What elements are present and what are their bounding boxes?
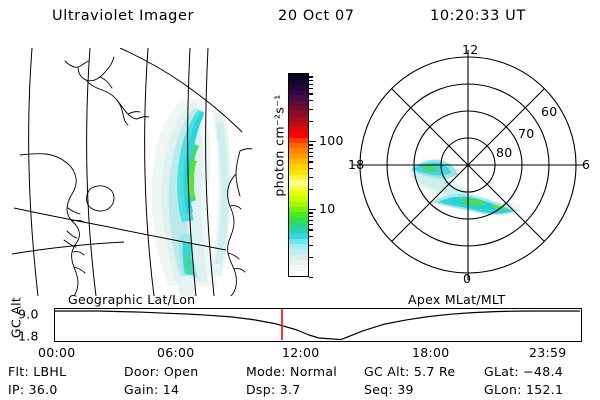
polar-mlt-label-12: 12: [462, 42, 479, 57]
time-axis: 00:00 06:00 12:00 18:00 23:59: [0, 345, 600, 361]
gc-alt-tick-max: 9.0: [18, 307, 39, 322]
colorbar-tick: [309, 189, 313, 190]
orbit-altitude-svg: [55, 309, 580, 340]
colorbar-axis-label: photon cm⁻²s⁻¹: [272, 76, 287, 216]
observation-time: 10:20:33 UT: [430, 8, 526, 24]
polar-mlt-label-18: 18: [348, 157, 365, 172]
colorbar-tick: [309, 93, 313, 94]
aurora-emission-geo: [152, 98, 231, 296]
geographic-panel-caption: Geographic Lat/Lon: [68, 292, 195, 307]
status-seq: Seq: 39: [364, 382, 414, 397]
status-glon: GLon: 152.1: [484, 382, 563, 397]
colorbar-tick: [309, 148, 313, 149]
colorbar-tick: [309, 212, 313, 213]
status-block: Flt: LBHL Door: Open Mode: Normal GC Alt…: [0, 364, 600, 400]
time-tick-3: 18:00: [412, 345, 450, 360]
polar-plot-svg: [346, 44, 594, 296]
status-ip: IP: 36.0: [8, 382, 58, 397]
header-bar: Ultraviolet Imager 20 Oct 07 10:20:33 UT: [0, 6, 600, 30]
status-flt: Flt: LBHL: [8, 364, 66, 379]
colorbar-tick: [309, 141, 316, 142]
colorbar-tick: [309, 216, 313, 217]
polar-mlt-label-6: 6: [582, 157, 590, 172]
colorbar-tick: [309, 80, 313, 81]
colorbar-tick: [309, 224, 313, 225]
page-title: Ultraviolet Imager: [52, 8, 194, 24]
time-tick-0: 00:00: [38, 345, 76, 360]
colorbar-tick: [309, 76, 313, 77]
status-gc-alt: GC Alt: 5.7 Re: [364, 364, 455, 379]
observation-date: 20 Oct 07: [278, 8, 355, 24]
colorbar-tick: [309, 88, 313, 89]
time-tick-2: 12:00: [282, 345, 320, 360]
geographic-map-svg: [12, 48, 260, 296]
polar-mlt-label-0: 0: [463, 271, 471, 286]
colorbar-tick: [309, 245, 313, 246]
polar-mlat-label-70: 70: [518, 126, 535, 141]
status-glat: GLat: −48.4: [484, 364, 563, 379]
time-tick-1: 06:00: [157, 345, 195, 360]
colorbar-ticks: [309, 73, 317, 277]
status-mode: Mode: Normal: [246, 364, 337, 379]
colorbar-tick: [309, 100, 313, 101]
geographic-map-panel[interactable]: [12, 48, 260, 296]
colorbar-tick: [309, 168, 313, 169]
colorbar-band: [289, 271, 308, 276]
colorbar-tick: [309, 277, 313, 278]
colorbar-tick: [309, 144, 313, 145]
polar-mlat-label-60: 60: [541, 104, 558, 119]
status-dsp: Dsp: 3.7: [246, 382, 301, 397]
colorbar-tick: [309, 156, 313, 157]
colorbar-tick: [309, 152, 313, 153]
status-door: Door: Open: [124, 364, 198, 379]
colorbar-tick: [309, 161, 313, 162]
colorbar-gradient: [288, 73, 309, 277]
colorbar-tick-label-10: 10: [319, 201, 336, 216]
colorbar-tick: [309, 236, 313, 237]
polar-mlat-label-80: 80: [496, 145, 513, 160]
time-tick-4: 23:59: [529, 345, 567, 360]
colorbar-tick: [309, 121, 313, 122]
apex-panel-caption: Apex MLat/MLT: [408, 292, 505, 307]
polar-mlt-spokes: [353, 50, 583, 280]
orbit-altitude-curve: [55, 311, 580, 340]
colorbar-tick: [309, 257, 313, 258]
colorbar-panel: photon cm⁻²s⁻¹ 10010: [255, 60, 355, 295]
polar-plot-panel[interactable]: 12 6 0 18 60 70 80: [346, 44, 594, 296]
orbit-panel-captions: Geographic Lat/Lon Apex MLat/MLT: [0, 292, 600, 308]
colorbar-tick-label-100: 100: [319, 133, 344, 148]
orbit-altitude-plot[interactable]: [54, 308, 582, 342]
colorbar-tick: [309, 209, 316, 210]
colorbar-tick: [309, 177, 313, 178]
status-gain: Gain: 14: [124, 382, 179, 397]
colorbar-tick: [309, 229, 313, 230]
colorbar-tick: [309, 109, 313, 110]
colorbar-tick: [309, 84, 313, 85]
colorbar-tick: [309, 220, 313, 221]
gc-alt-tick-min: 1.8: [18, 329, 39, 344]
